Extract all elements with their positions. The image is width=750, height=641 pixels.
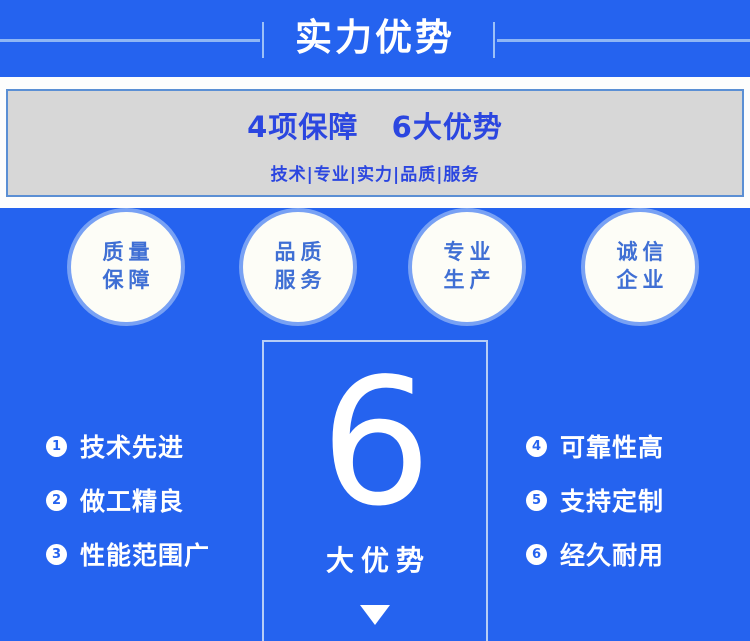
chevron-down-icon [360, 605, 390, 625]
badge-line-2: 保障 [98, 267, 155, 295]
header-banner: 实力优势 [0, 0, 750, 77]
list-item-label: 可靠性高 [560, 428, 664, 464]
badge-circle-professional-production[interactable]: 专业 生产 [412, 212, 522, 322]
list-item-number: 4 [526, 436, 547, 457]
badge-circles-row: 质量 保障 品质 服务 专业 生产 诚信 企业 [0, 212, 750, 324]
advantage-count: 6 [320, 356, 429, 531]
center-highlight-box: 6 大优势 [262, 340, 488, 641]
list-item-label: 技术先进 [80, 428, 184, 464]
feature-list-left: 1 技术先进 2 做工精良 3 性能范围广 [46, 420, 261, 582]
promo-panel-title: 4项保障 6大优势 [247, 104, 503, 146]
badge-line-2: 服务 [270, 267, 327, 295]
page-title: 实力优势 [0, 0, 750, 77]
advantage-label: 大优势 [319, 539, 431, 579]
list-item-number: 5 [526, 490, 547, 511]
list-item-number: 1 [46, 436, 67, 457]
badge-line-1: 质量 [98, 239, 155, 267]
list-item-number: 2 [46, 490, 67, 511]
list-item-label: 支持定制 [560, 482, 664, 518]
promo-panel: 4项保障 6大优势 技术|专业|实力|品质|服务 [6, 89, 744, 197]
promo-panel-subtitle: 技术|专业|实力|品质|服务 [271, 160, 480, 185]
list-item[interactable]: 3 性能范围广 [46, 528, 261, 580]
badge-line-1: 诚信 [612, 239, 669, 267]
list-item[interactable]: 4 可靠性高 [526, 420, 741, 472]
badge-line-2: 生产 [439, 267, 496, 295]
list-item-number: 6 [526, 544, 547, 565]
badge-line-1: 品质 [270, 239, 327, 267]
badge-line-2: 企业 [612, 267, 669, 295]
list-item[interactable]: 1 技术先进 [46, 420, 261, 472]
list-item[interactable]: 5 支持定制 [526, 474, 741, 526]
feature-list-right: 4 可靠性高 5 支持定制 6 经久耐用 [526, 420, 741, 582]
badge-circle-trustworthy-enterprise[interactable]: 诚信 企业 [585, 212, 695, 322]
badge-circle-quality-guarantee[interactable]: 质量 保障 [71, 212, 181, 322]
list-item-number: 3 [46, 544, 67, 565]
list-item-label: 性能范围广 [80, 536, 210, 572]
list-item-label: 做工精良 [80, 482, 184, 518]
list-item[interactable]: 2 做工精良 [46, 474, 261, 526]
badge-circle-quality-service[interactable]: 品质 服务 [243, 212, 353, 322]
list-item-label: 经久耐用 [560, 536, 664, 572]
badge-line-1: 专业 [439, 239, 496, 267]
list-item[interactable]: 6 经久耐用 [526, 528, 741, 580]
